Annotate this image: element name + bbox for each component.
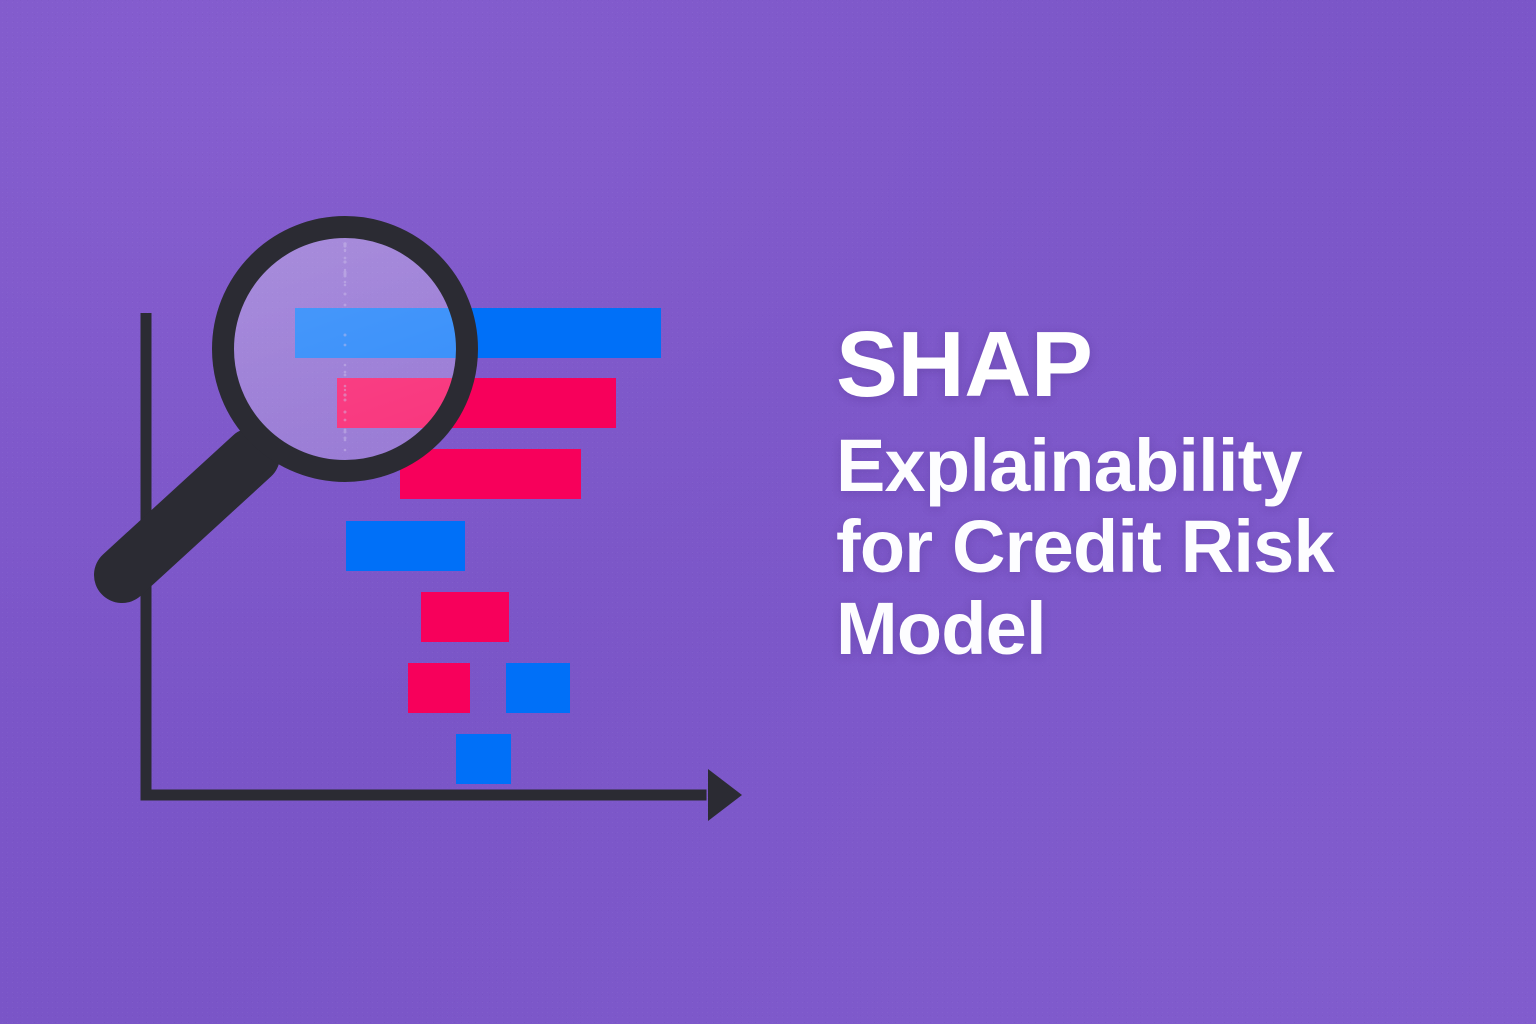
bar-row-3-negative [400,449,581,499]
x-axis-line [141,790,707,801]
bar-row-4-positive [346,521,465,571]
page-title: SHAP [836,318,1476,411]
bar-row-6-positive [506,663,570,713]
subtitle-line-2: for Credit Risk [836,506,1476,587]
page-subtitle: Explainability for Credit Risk Model [836,425,1476,669]
subtitle-line-1: Explainability [836,425,1476,506]
x-axis-arrowhead [708,769,742,821]
bar-row-6-negative [408,663,470,713]
bar-row-7-positive [456,734,511,784]
bar-row-5-negative [421,592,509,642]
subtitle-line-3: Model [836,588,1476,669]
magnifier-lens [233,237,457,461]
banner-canvas: SHAP Explainability for Credit Risk Mode… [0,0,1536,1024]
headline-block: SHAP Explainability for Credit Risk Mode… [836,318,1476,669]
